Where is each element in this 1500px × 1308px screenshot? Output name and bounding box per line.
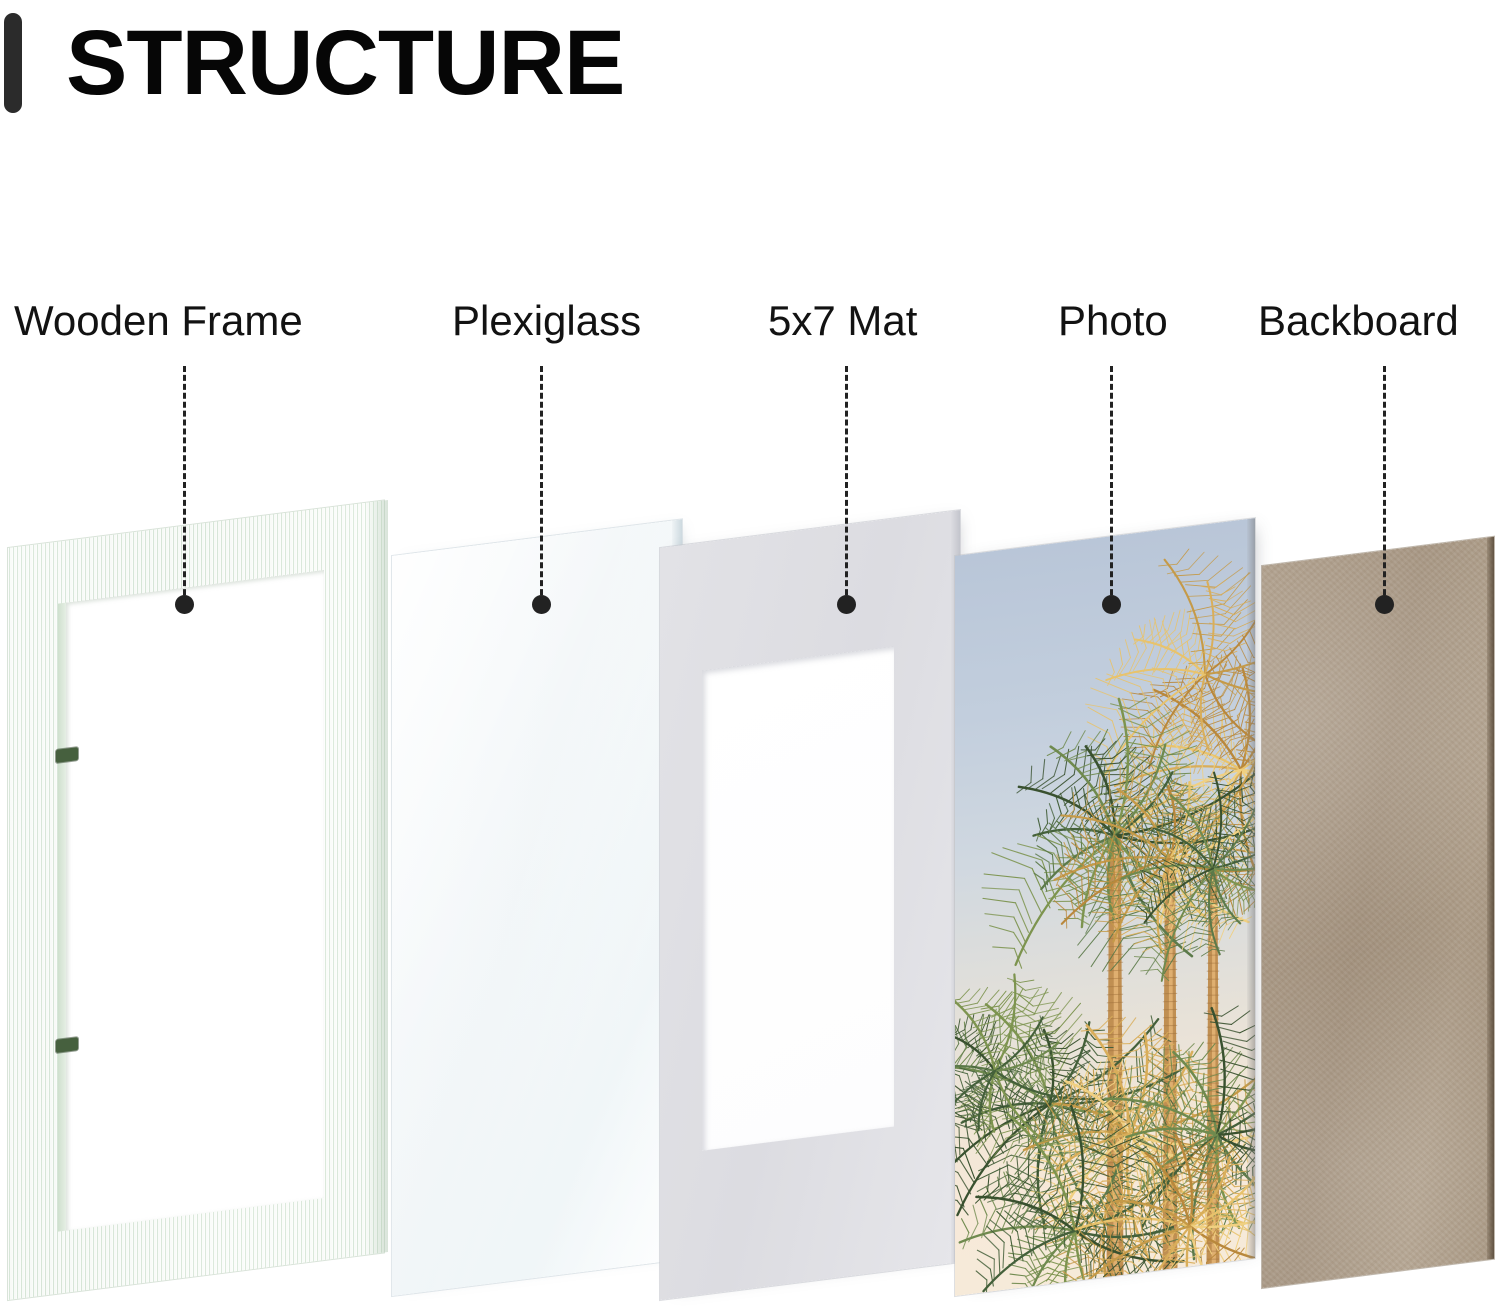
leader-dot-backboard <box>1375 595 1394 614</box>
frame-opening <box>66 570 324 1231</box>
layer-wooden-frame <box>8 548 388 1308</box>
plexiglass-sheen <box>392 519 682 1296</box>
label-wooden-frame: Wooden Frame <box>14 300 303 342</box>
label-mat: 5x7 Mat <box>768 300 917 342</box>
frame-retaining-tab <box>56 747 78 763</box>
leader-dot-mat <box>837 595 856 614</box>
leader-dot-photo <box>1102 595 1121 614</box>
leader-line-plexiglass <box>540 366 543 604</box>
layer-photo <box>955 518 1255 1296</box>
exploded-diagram-stage <box>0 0 1500 1307</box>
backboard-edge <box>1487 537 1494 1260</box>
photo-artwork <box>955 518 1255 1296</box>
leader-line-wooden-frame <box>183 366 186 604</box>
photo-edge <box>1247 518 1255 1259</box>
leader-dot-plexiglass <box>532 595 551 614</box>
frame-side-shading <box>366 500 388 1255</box>
label-photo: Photo <box>1058 300 1168 342</box>
label-plexiglass: Plexiglass <box>452 300 641 342</box>
mat-window-cutout <box>702 646 894 1150</box>
leader-line-backboard <box>1383 366 1386 604</box>
layer-plexiglass <box>392 519 682 1296</box>
layer-backboard <box>1262 537 1494 1288</box>
layer-mat-board <box>660 510 960 1300</box>
leader-line-photo <box>1110 366 1113 604</box>
leader-dot-wooden-frame <box>175 595 194 614</box>
label-backboard: Backboard <box>1258 300 1459 342</box>
leader-line-mat <box>845 366 848 604</box>
frame-face <box>8 500 388 1308</box>
frame-retaining-tab <box>56 1037 78 1053</box>
